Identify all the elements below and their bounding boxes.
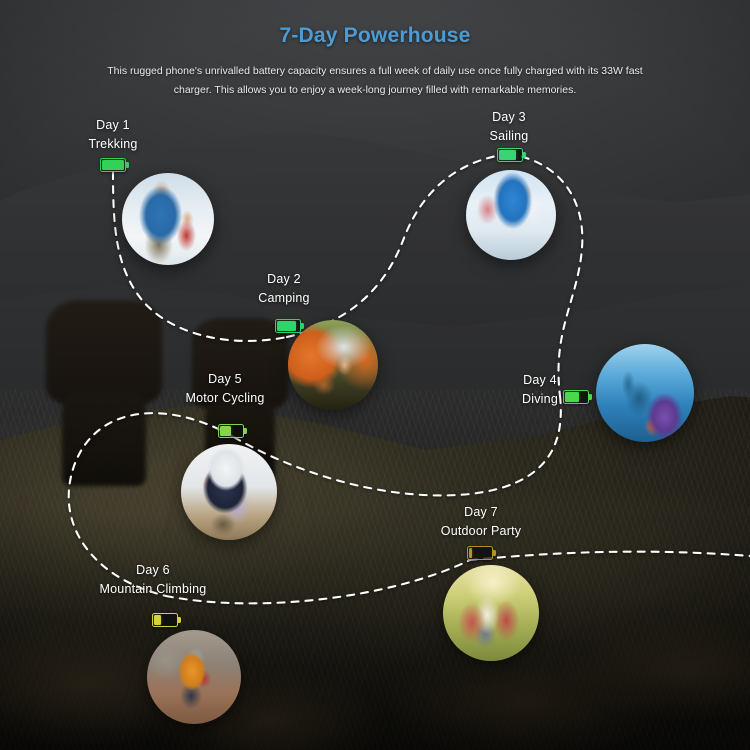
powerhouse-infographic: 7-Day Powerhouse This rugged phone's unr… [0, 0, 750, 750]
photo-bubble-day5[interactable] [181, 444, 277, 540]
activity-label: Sailing [459, 129, 559, 143]
day-label: Day 1 [63, 118, 163, 132]
day-label: Day 5 [179, 372, 271, 386]
day-label: Day 4 [505, 373, 575, 387]
photo-mountain-climbing [147, 630, 241, 724]
day-label: Day 3 [459, 110, 559, 124]
photo-camping [288, 320, 378, 410]
photo-motor-cycling [181, 444, 277, 540]
activity-label: Camping [234, 291, 334, 305]
photo-outdoor-party [443, 565, 539, 661]
activity-label: Outdoor Party [426, 524, 536, 538]
photo-diving [596, 344, 694, 442]
photo-bubble-day4[interactable] [596, 344, 694, 442]
photo-bubble-day7[interactable] [443, 565, 539, 661]
day-label: Day 2 [234, 272, 334, 286]
page-title: 7-Day Powerhouse [0, 24, 750, 48]
stop-label-day7: Day 7 Outdoor Party [426, 505, 536, 538]
page-description: This rugged phone's unrivalled battery c… [105, 62, 645, 101]
photo-trekking [122, 173, 214, 265]
battery-high-icon [275, 319, 301, 333]
battery-low-icon [152, 613, 178, 627]
activity-label: Motor Cycling [179, 391, 271, 405]
battery-critical-icon [467, 546, 493, 560]
day-label: Day 7 [426, 505, 536, 519]
stop-label-day2: Day 2 Camping [234, 272, 334, 305]
photo-bubble-day1[interactable] [122, 173, 214, 265]
battery-mid-icon [563, 390, 589, 404]
activity-label: Trekking [63, 137, 163, 151]
stop-label-day5: Day 5 Motor Cycling [179, 372, 271, 405]
stop-label-day3: Day 3 Sailing [459, 110, 559, 143]
photo-bubble-day3[interactable] [466, 170, 556, 260]
battery-high-icon [497, 148, 523, 162]
stop-label-day6: Day 6 Mountain Climbing [88, 563, 218, 596]
stop-label-day1: Day 1 Trekking [63, 118, 163, 151]
activity-label: Mountain Climbing [88, 582, 218, 596]
header: 7-Day Powerhouse This rugged phone's unr… [0, 0, 750, 101]
battery-full-icon [100, 158, 126, 172]
photo-bubble-day6[interactable] [147, 630, 241, 724]
photo-bubble-day2[interactable] [288, 320, 378, 410]
photo-sailing [466, 170, 556, 260]
day-label: Day 6 [88, 563, 218, 577]
battery-mid-icon [218, 424, 244, 438]
